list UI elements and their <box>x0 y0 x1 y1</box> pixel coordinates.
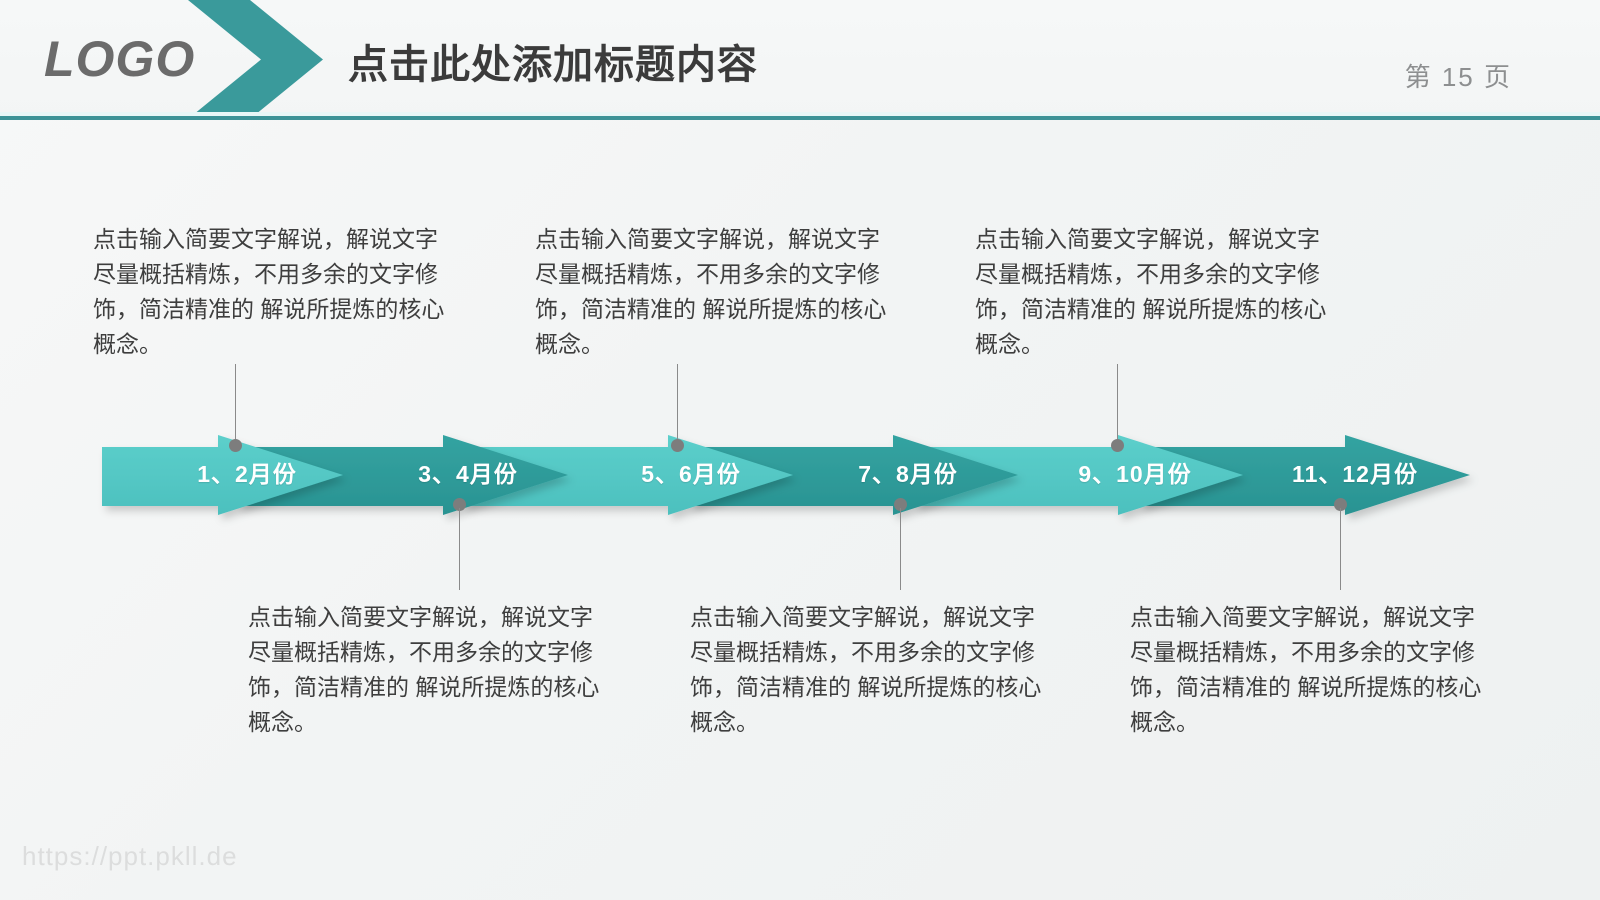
timeline-step-label-1[interactable]: 1、2月份 <box>197 455 297 489</box>
connector-line-6 <box>1340 508 1341 590</box>
timeline-step-label-2[interactable]: 3、4月份 <box>418 455 518 489</box>
connector-line-5 <box>1117 364 1118 444</box>
slide-canvas: LOGO 点击此处添加标题内容 第 15 页 <box>0 0 1600 900</box>
caption-text-2[interactable]: 点击输入简要文字解说，解说文字尽量概括精炼，不用多余的文字修饰，简洁精准的 解说… <box>248 600 600 740</box>
header-rule <box>0 116 1600 120</box>
caption-text-3[interactable]: 点击输入简要文字解说，解说文字尽量概括精炼，不用多余的文字修饰，简洁精准的 解说… <box>535 222 887 362</box>
logo: LOGO <box>44 30 195 88</box>
page-title: 点击此处添加标题内容 <box>348 32 758 90</box>
caption-text-5[interactable]: 点击输入简要文字解说，解说文字尽量概括精炼，不用多余的文字修饰，简洁精准的 解说… <box>975 222 1327 362</box>
connector-line-3 <box>677 364 678 444</box>
timeline-step-label-6[interactable]: 11、12月份 <box>1292 455 1418 489</box>
timeline-step-label-3[interactable]: 5、6月份 <box>641 455 741 489</box>
timeline-step-label-4[interactable]: 7、8月份 <box>858 455 958 489</box>
connector-line-2 <box>459 508 460 590</box>
connector-dot-1 <box>229 439 242 452</box>
connector-line-1 <box>235 364 236 444</box>
caption-text-6[interactable]: 点击输入简要文字解说，解说文字尽量概括精炼，不用多余的文字修饰，简洁精准的 解说… <box>1130 600 1482 740</box>
connector-line-4 <box>900 508 901 590</box>
header-chevron-icon <box>188 0 323 119</box>
connector-dot-5 <box>1111 439 1124 452</box>
caption-text-4[interactable]: 点击输入简要文字解说，解说文字尽量概括精炼，不用多余的文字修饰，简洁精准的 解说… <box>690 600 1042 740</box>
connector-dot-3 <box>671 439 684 452</box>
slide-header: LOGO 点击此处添加标题内容 第 15 页 <box>0 0 1600 119</box>
timeline-step-label-5[interactable]: 9、10月份 <box>1078 455 1191 489</box>
caption-text-1[interactable]: 点击输入简要文字解说，解说文字尽量概括精炼，不用多余的文字修饰，简洁精准的 解说… <box>93 222 445 362</box>
watermark: https://ppt.pkll.de <box>22 841 238 872</box>
page-number: 第 15 页 <box>1405 57 1512 94</box>
